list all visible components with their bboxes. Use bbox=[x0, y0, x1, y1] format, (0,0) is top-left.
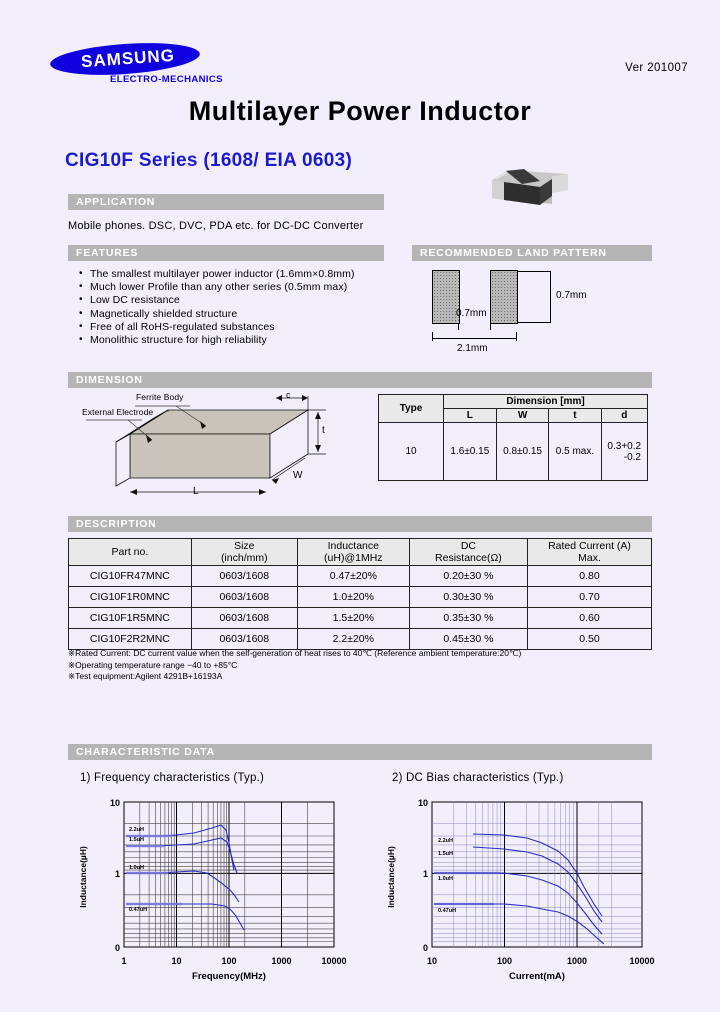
cell-size: 0603/1608 bbox=[191, 566, 297, 587]
series-title: CIG10F Series (1608/ EIA 0603) bbox=[65, 150, 352, 172]
dimension-drawing: Ferrite Body External Electrode L W t c bbox=[80, 392, 370, 504]
chart-dc-bias-characteristics: 10 1 0 10 100 1000 10000 Current(mA) Ind… bbox=[372, 792, 672, 982]
col-part-no: Part no. bbox=[69, 539, 192, 566]
cell-size: 0603/1608 bbox=[191, 587, 297, 608]
section-header-land-pattern: RECOMMENDED LAND PATTERN bbox=[412, 245, 652, 261]
cell-size: 0603/1608 bbox=[191, 608, 297, 629]
dim-val-L: 1.6±0.15 bbox=[444, 423, 497, 481]
svg-text:0.47uH: 0.47uH bbox=[438, 908, 456, 914]
list-item: Free of all RoHS-regulated substances bbox=[78, 321, 355, 334]
svg-text:1: 1 bbox=[121, 956, 126, 966]
dim-col-dimension: Dimension [mm] bbox=[444, 395, 648, 409]
logo-subbrand-text: ELECTRO-MECHANICS bbox=[110, 74, 223, 85]
table-row: CIG10F2R2MNC 0603/1608 2.2±20% 0.45±30 %… bbox=[69, 629, 652, 650]
svg-text:10: 10 bbox=[427, 956, 437, 966]
table-header-row: Part no. Size (inch/mm) Inductance (uH)@… bbox=[69, 539, 652, 566]
gap-tick-left bbox=[458, 324, 459, 330]
cell-current: 0.50 bbox=[528, 629, 652, 650]
dim-val-d-top: 0.3+0.2 bbox=[604, 441, 645, 452]
description-table: Part no. Size (inch/mm) Inductance (uH)@… bbox=[68, 538, 652, 650]
svg-text:1.0uH: 1.0uH bbox=[129, 865, 144, 871]
width-label: W bbox=[293, 470, 303, 481]
list-item: Monolithic structure for high reliabilit… bbox=[78, 334, 355, 347]
samsung-logo: SAMSUNG ELECTRO-MECHANICS bbox=[50, 44, 300, 92]
dim-val-type: 10 bbox=[379, 423, 444, 481]
svg-text:1.5uH: 1.5uH bbox=[129, 837, 144, 843]
svg-text:1.0uH: 1.0uH bbox=[438, 876, 453, 882]
svg-text:2.2uH: 2.2uH bbox=[438, 838, 453, 844]
ferrite-body-label: Ferrite Body bbox=[136, 392, 184, 402]
svg-text:1: 1 bbox=[423, 869, 428, 879]
electrode-width-label: c bbox=[286, 390, 291, 400]
svg-text:1000: 1000 bbox=[271, 956, 291, 966]
gap-dimension-label: 0.7mm bbox=[456, 308, 487, 319]
dim-val-d-bottom: -0.2 bbox=[604, 452, 645, 463]
length-label: L bbox=[193, 486, 199, 497]
cell-part: CIG10FR47MNC bbox=[69, 566, 192, 587]
svg-text:10: 10 bbox=[171, 956, 181, 966]
list-item: Low DC resistance bbox=[78, 294, 355, 307]
pad-height-label: 0.7mm bbox=[556, 290, 587, 301]
section-header-dimension: DIMENSION bbox=[68, 372, 652, 388]
col-rated-current: Rated Current (A) Max. bbox=[528, 539, 652, 566]
table-row: CIG10F1R5MNC 0603/1608 1.5±20% 0.35±30 %… bbox=[69, 608, 652, 629]
col-dcr-l1: DC bbox=[411, 540, 526, 552]
col-dcr-l2: Resistance(Ω) bbox=[411, 552, 526, 564]
cell-dcr: 0.35±30 % bbox=[409, 608, 527, 629]
section-header-application: APPLICATION bbox=[68, 194, 384, 210]
dim-val-d: 0.3+0.2 -0.2 bbox=[601, 423, 647, 481]
col-inductance-l2: (uH)@1MHz bbox=[299, 552, 408, 564]
land-pad-right bbox=[490, 270, 518, 324]
svg-text:1: 1 bbox=[115, 869, 120, 879]
datasheet-page: SAMSUNG ELECTRO-MECHANICS Ver 201007 Mul… bbox=[0, 0, 720, 1012]
cell-part: CIG10F1R5MNC bbox=[69, 608, 192, 629]
dim-col-W: W bbox=[496, 409, 549, 423]
dim-col-type: Type bbox=[379, 395, 444, 423]
section-header-description: DESCRIPTION bbox=[68, 516, 652, 532]
chart-2-title: 2) DC Bias characteristics (Typ.) bbox=[392, 772, 563, 784]
col-size: Size (inch/mm) bbox=[191, 539, 297, 566]
svg-text:Inductance(µH): Inductance(µH) bbox=[78, 846, 88, 908]
features-list: The smallest multilayer power inductor (… bbox=[78, 268, 355, 347]
svg-text:Current(mA): Current(mA) bbox=[509, 971, 565, 982]
svg-text:0: 0 bbox=[115, 943, 120, 953]
external-electrode-label: External Electrode bbox=[82, 407, 153, 417]
cell-inductance: 0.47±20% bbox=[297, 566, 409, 587]
dim-col-d: d bbox=[601, 409, 647, 423]
section-header-features: FEATURES bbox=[68, 245, 384, 261]
dim-line-bottom bbox=[517, 322, 551, 323]
chart-frequency-characteristics: 10 1 0 1 10 100 1000 10000 Frequency(MHz… bbox=[64, 792, 364, 982]
col-inductance-l1: Inductance bbox=[299, 540, 408, 552]
svg-text:100: 100 bbox=[221, 956, 236, 966]
svg-text:0.47uH: 0.47uH bbox=[129, 907, 147, 913]
land-pattern-diagram: 0.7mm 0.7mm 2.1mm bbox=[412, 262, 652, 368]
svg-text:10000: 10000 bbox=[629, 956, 654, 966]
table-row: CIG10F1R0MNC 0603/1608 1.0±20% 0.30±30 %… bbox=[69, 587, 652, 608]
svg-text:Frequency(MHz): Frequency(MHz) bbox=[192, 971, 266, 982]
col-size-l1: Size bbox=[193, 540, 296, 552]
cell-inductance: 1.0±20% bbox=[297, 587, 409, 608]
section-header-characteristic-data: CHARACTERISTIC DATA bbox=[68, 744, 652, 760]
total-dim-tick-left bbox=[432, 332, 433, 341]
dim-val-W: 0.8±0.15 bbox=[496, 423, 549, 481]
list-item: The smallest multilayer power inductor (… bbox=[78, 268, 355, 281]
svg-text:1000: 1000 bbox=[567, 956, 587, 966]
col-inductance: Inductance (uH)@1MHz bbox=[297, 539, 409, 566]
cell-part: CIG10F2R2MNC bbox=[69, 629, 192, 650]
inductor-photo bbox=[478, 160, 574, 216]
col-part-no-l1: Part no. bbox=[70, 546, 190, 558]
dim-line-vert bbox=[550, 271, 551, 323]
table-row: CIG10FR47MNC 0603/1608 0.47±20% 0.20±30 … bbox=[69, 566, 652, 587]
chart-1-title: 1) Frequency characteristics (Typ.) bbox=[80, 772, 264, 784]
dim-col-L: L bbox=[444, 409, 497, 423]
svg-text:100: 100 bbox=[497, 956, 512, 966]
svg-text:0: 0 bbox=[423, 943, 428, 953]
version-label: Ver 201007 bbox=[625, 62, 688, 74]
note-line: ※Rated Current: DC current value when th… bbox=[68, 648, 521, 660]
svg-text:10000: 10000 bbox=[321, 956, 346, 966]
page-title: Multilayer Power Inductor bbox=[0, 96, 720, 127]
total-dim-line bbox=[432, 338, 517, 339]
application-text: Mobile phones. DSC, DVC, PDA etc. for DC… bbox=[68, 220, 363, 232]
cell-current: 0.80 bbox=[528, 566, 652, 587]
notes-block: ※Rated Current: DC current value when th… bbox=[68, 648, 521, 683]
cell-size: 0603/1608 bbox=[191, 629, 297, 650]
cell-dcr: 0.30±30 % bbox=[409, 587, 527, 608]
cell-current: 0.70 bbox=[528, 587, 652, 608]
svg-text:10: 10 bbox=[110, 798, 120, 808]
dimension-table: Type Dimension [mm] L W t d 10 1.6±0.15 … bbox=[378, 394, 648, 481]
note-line: ※Test equipment:Agilent 4291B+16193A bbox=[68, 671, 521, 683]
svg-text:10: 10 bbox=[418, 798, 428, 808]
cell-current: 0.60 bbox=[528, 608, 652, 629]
list-item: Magnetically shielded structure bbox=[78, 308, 355, 321]
cell-dcr: 0.45±30 % bbox=[409, 629, 527, 650]
col-rated-current-l2: Max. bbox=[529, 552, 650, 564]
dim-val-t: 0.5 max. bbox=[549, 423, 601, 481]
col-size-l2: (inch/mm) bbox=[193, 552, 296, 564]
dim-col-t: t bbox=[549, 409, 601, 423]
total-dimension-label: 2.1mm bbox=[457, 343, 488, 354]
svg-text:1.5uH: 1.5uH bbox=[438, 851, 453, 857]
dim-line-top bbox=[517, 271, 551, 272]
note-line: ※Operating temperature range −40 to +85°… bbox=[68, 660, 521, 672]
cell-inductance: 1.5±20% bbox=[297, 608, 409, 629]
list-item: Much lower Profile than any other series… bbox=[78, 281, 355, 294]
svg-text:2.2uH: 2.2uH bbox=[129, 827, 144, 833]
cell-dcr: 0.20±30 % bbox=[409, 566, 527, 587]
col-dcr: DC Resistance(Ω) bbox=[409, 539, 527, 566]
total-dim-tick-right bbox=[516, 332, 517, 341]
thickness-label: t bbox=[322, 425, 325, 436]
col-rated-current-l1: Rated Current (A) bbox=[529, 540, 650, 552]
svg-text:Inductance(µH): Inductance(µH) bbox=[386, 846, 396, 908]
cell-part: CIG10F1R0MNC bbox=[69, 587, 192, 608]
cell-inductance: 2.2±20% bbox=[297, 629, 409, 650]
gap-tick-right bbox=[490, 324, 491, 330]
